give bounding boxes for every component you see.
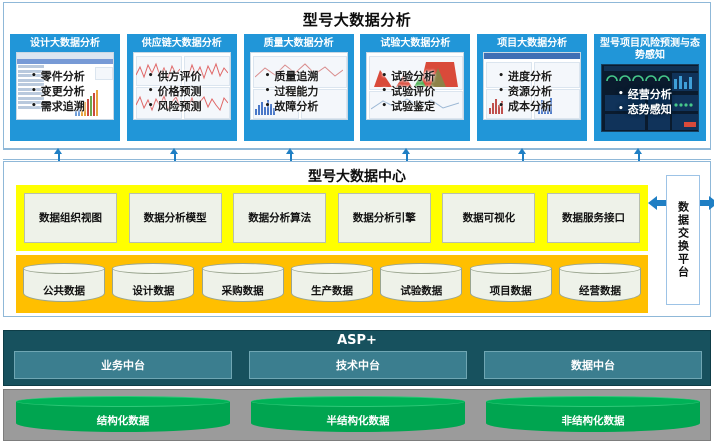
capability-box[interactable]: 数据服务接口 [547, 193, 640, 243]
storage-row: 结构化数据 半结构化数据 非结构化数据 [16, 396, 700, 436]
up-arrow-icon [286, 148, 295, 161]
asp-platform-layer: ASP+ 业务中台 技术中台 数据中台 [3, 330, 711, 386]
data-cylinder[interactable]: 设计数据 [112, 263, 194, 306]
bullet-item: 零件分析 [31, 69, 113, 84]
analysis-card-supply-chain[interactable]: 供应链大数据分析 [127, 34, 237, 141]
data-center-title: 型号大数据中心 [4, 166, 710, 186]
capability-band: 数据组织视图 数据分析模型 数据分析算法 数据分析引擎 数据可视化 数据服务接口 [16, 185, 648, 251]
up-arrow-icon [634, 148, 643, 161]
card-bullets: 经营分析 态势感知 [602, 87, 698, 117]
asp-platform-box[interactable]: 数据中台 [484, 351, 702, 379]
bullet-item: 成本分析 [498, 99, 580, 114]
right-arrow-icon [700, 195, 714, 210]
bullet-item: 质量追溯 [265, 69, 347, 84]
up-arrow-icon [402, 148, 411, 161]
data-cylinder[interactable]: 公共数据 [23, 263, 105, 306]
cylinder-label: 经营数据 [559, 283, 641, 298]
connector-line-bottom [3, 159, 711, 160]
bullet-item: 价格预测 [148, 84, 230, 99]
cylinder-top [559, 263, 641, 274]
connector-line-top [3, 148, 711, 149]
asp-platform-box[interactable]: 技术中台 [249, 351, 467, 379]
asp-platform-box[interactable]: 业务中台 [14, 351, 232, 379]
card-bullets: 进度分析 资源分析 成本分析 [484, 69, 580, 114]
cylinder-top [23, 263, 105, 274]
data-center-layer: 型号大数据中心 数据组织视图 数据分析模型 数据分析算法 数据分析引擎 数据可视… [3, 161, 711, 317]
analysis-card-project[interactable]: 项目大数据分析 [477, 34, 587, 141]
cylinder-label: 设计数据 [112, 283, 194, 298]
bullet-item: 供方评价 [148, 69, 230, 84]
analysis-card-quality[interactable]: 质量大数据分析 [244, 34, 354, 141]
card-title: 试验大数据分析 [360, 37, 470, 52]
bullet-item: 试验评价 [381, 84, 463, 99]
bullet-item: 进度分析 [498, 69, 580, 84]
card-thumbnail-supply-chain: 供方评价 价格预测 风险预测 [133, 52, 231, 120]
analysis-layer: 型号大数据分析 设计大数据分析 [3, 2, 711, 150]
exchange-platform-panel[interactable]: 数据交换平台 [666, 175, 700, 305]
bullet-item: 风险预测 [148, 99, 230, 114]
storage-label: 非结构化数据 [486, 413, 700, 428]
bullet-item: 故障分析 [265, 99, 347, 114]
cylinder-top [380, 263, 462, 274]
up-arrow-icon [170, 148, 179, 161]
storage-label: 结构化数据 [16, 413, 230, 428]
storage-cylinder[interactable]: 半结构化数据 [251, 396, 465, 436]
cylinder-top [251, 396, 465, 407]
up-arrow-icon [518, 148, 527, 161]
cylinder-top [470, 263, 552, 274]
storage-layer: 结构化数据 半结构化数据 非结构化数据 [3, 389, 711, 441]
card-title: 项目大数据分析 [477, 37, 587, 52]
data-cylinder[interactable]: 项目数据 [470, 263, 552, 306]
bullet-item: 态势感知 [618, 102, 698, 117]
analysis-card-test[interactable]: 试验大数据分析 [360, 34, 470, 141]
data-cylinder[interactable]: 经营数据 [559, 263, 641, 306]
cylinder-label: 项目数据 [470, 283, 552, 298]
card-thumbnail-design: 零件分析 变更分析 需求追溯 [16, 52, 114, 120]
card-thumbnail-test: 试验分析 试验评价 试验鉴定 [366, 52, 464, 120]
card-thumbnail-quality: 质量追溯 过程能力 故障分析 [250, 52, 348, 120]
storage-cylinder[interactable]: 非结构化数据 [486, 396, 700, 436]
bullet-item: 试验分析 [381, 69, 463, 84]
cylinder-label: 生产数据 [291, 283, 373, 298]
connector-arrows [3, 148, 711, 162]
storage-cylinder[interactable]: 结构化数据 [16, 396, 230, 436]
asp-title: ASP+ [4, 333, 710, 348]
cylinder-top [202, 263, 284, 274]
capability-box[interactable]: 数据分析模型 [129, 193, 222, 243]
capability-box[interactable]: 数据可视化 [442, 193, 535, 243]
analysis-card-design[interactable]: 设计大数据分析 [10, 34, 120, 141]
data-source-band: 公共数据 设计数据 采购数据 生产数据 试验数据 [16, 255, 648, 313]
data-cylinder[interactable]: 采购数据 [202, 263, 284, 306]
cylinder-top [291, 263, 373, 274]
bullet-item: 试验鉴定 [381, 99, 463, 114]
bullet-item: 需求追溯 [31, 99, 113, 114]
architecture-diagram: 型号大数据分析 设计大数据分析 [0, 0, 714, 444]
card-title: 供应链大数据分析 [127, 37, 237, 52]
card-bullets: 质量追溯 过程能力 故障分析 [251, 69, 347, 114]
data-cylinder[interactable]: 生产数据 [291, 263, 373, 306]
cylinder-label: 采购数据 [202, 283, 284, 298]
card-title: 型号项目风险预测与态势感知 [594, 37, 706, 64]
storage-label: 半结构化数据 [251, 413, 465, 428]
cylinder-top [16, 396, 230, 407]
bullet-item: 资源分析 [498, 84, 580, 99]
bullet-item: 变更分析 [31, 84, 113, 99]
capability-box[interactable]: 数据组织视图 [24, 193, 117, 243]
cylinder-top [112, 263, 194, 274]
cylinder-top [486, 396, 700, 407]
cylinder-label: 公共数据 [23, 283, 105, 298]
cylinder-label: 试验数据 [380, 283, 462, 298]
card-bullets: 供方评价 价格预测 风险预测 [134, 69, 230, 114]
bullet-item: 过程能力 [265, 84, 347, 99]
capability-box[interactable]: 数据分析引擎 [338, 193, 431, 243]
card-title: 质量大数据分析 [244, 37, 354, 52]
page-title: 型号大数据分析 [4, 9, 710, 30]
analysis-cards-row: 设计大数据分析 [10, 34, 706, 141]
up-arrow-icon [54, 148, 63, 161]
asp-platform-row: 业务中台 技术中台 数据中台 [14, 351, 702, 379]
exchange-platform-label: 数据交换平台 [676, 201, 691, 279]
card-bullets: 试验分析 试验评价 试验鉴定 [367, 69, 463, 114]
capability-box[interactable]: 数据分析算法 [233, 193, 326, 243]
analysis-card-risk-situation[interactable]: 型号项目风险预测与态势感知 [594, 34, 706, 141]
card-thumbnail-project: 进度分析 资源分析 成本分析 [483, 52, 581, 120]
data-cylinder[interactable]: 试验数据 [380, 263, 462, 306]
card-thumbnail-risk-situation: 经营分析 态势感知 [601, 64, 699, 132]
bullet-item: 经营分析 [618, 87, 698, 102]
left-arrow-icon [648, 195, 666, 210]
card-title: 设计大数据分析 [10, 37, 120, 52]
card-bullets: 零件分析 变更分析 需求追溯 [17, 69, 113, 114]
